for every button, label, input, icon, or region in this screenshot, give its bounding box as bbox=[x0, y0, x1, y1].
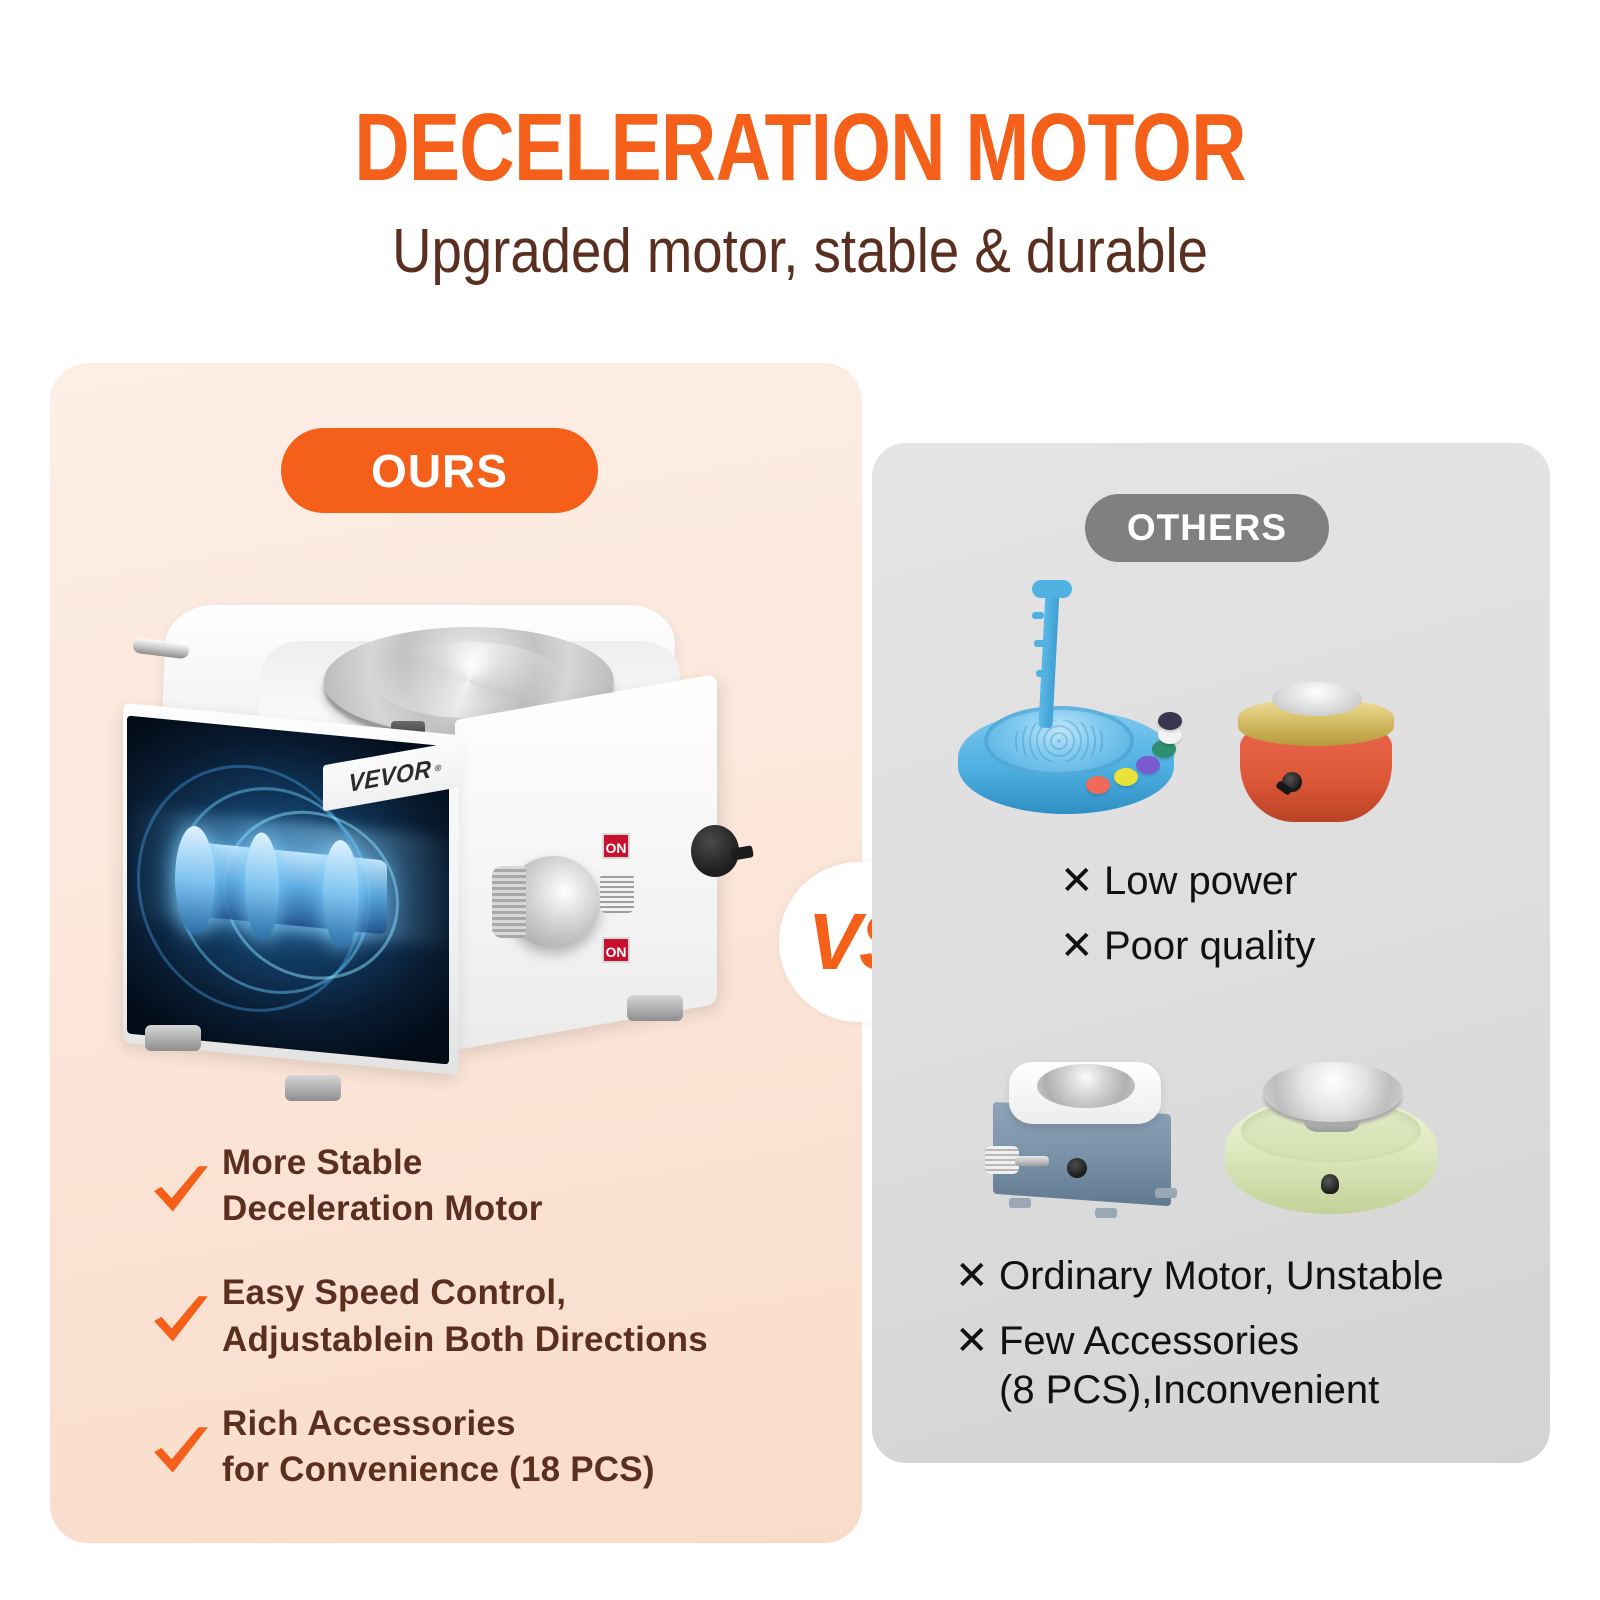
header: DECELERATION MOTOR Upgraded motor, stabl… bbox=[0, 0, 1600, 330]
competitor-paint-pot bbox=[1086, 776, 1110, 794]
ours-product-image: VEVOR® ON ON bbox=[105, 585, 765, 1105]
con-text: Low power bbox=[1104, 857, 1297, 906]
con-text: Few Accessories (8 PCS),Inconvenient bbox=[999, 1317, 1379, 1415]
competitor-arm-top bbox=[1032, 580, 1072, 598]
competitor-arm-nub bbox=[1034, 640, 1046, 647]
feature-line-2: Deceleration Motor bbox=[222, 1186, 543, 1232]
switch-label-top: ON bbox=[602, 833, 630, 859]
con-text: Poor quality bbox=[1104, 922, 1315, 971]
switch-label-bottom: ON bbox=[602, 937, 630, 963]
competitor-knob bbox=[985, 1146, 1019, 1174]
list-item: ✕ Few Accessories (8 PCS),Inconvenient bbox=[955, 1317, 1444, 1415]
competitor-wheel-head bbox=[1263, 1062, 1403, 1122]
competitor-arm-nub bbox=[1032, 612, 1044, 619]
x-icon: ✕ bbox=[955, 1321, 999, 1361]
feature-text: Rich Accessories for Convenience (18 PCS… bbox=[222, 1401, 655, 1493]
switch-base bbox=[600, 873, 634, 913]
ours-badge: OURS bbox=[281, 428, 598, 513]
ours-badge-label: OURS bbox=[371, 444, 508, 498]
con-text: Ordinary Motor, Unstable bbox=[999, 1252, 1444, 1301]
list-item: ✕ Ordinary Motor, Unstable bbox=[955, 1252, 1444, 1301]
competitor-knob bbox=[1282, 772, 1302, 792]
competitor-paint-pot bbox=[1114, 768, 1138, 786]
list-item: Rich Accessories for Convenience (18 PCS… bbox=[150, 1401, 830, 1493]
competitor-product-gray-box-wheel bbox=[985, 1040, 1185, 1225]
competitor-wheel-head bbox=[1037, 1064, 1135, 1108]
competitor-power-port-icon bbox=[1067, 1158, 1087, 1178]
ours-feature-list: More Stable Deceleration Motor Easy Spee… bbox=[150, 1140, 830, 1531]
product-foot bbox=[285, 1075, 341, 1101]
check-icon bbox=[150, 1425, 212, 1484]
list-item: Easy Speed Control, Adjustablein Both Di… bbox=[150, 1270, 830, 1362]
competitor-product-blue-toy-wheel bbox=[958, 578, 1178, 828]
check-icon bbox=[150, 1294, 212, 1353]
competitor-wheel-head bbox=[1272, 682, 1362, 716]
competitor-foot bbox=[1095, 1208, 1117, 1218]
page-title: DECELERATION MOTOR bbox=[160, 100, 1440, 196]
x-icon: ✕ bbox=[955, 1256, 999, 1296]
registered-trademark-icon: ® bbox=[435, 762, 442, 773]
competitor-wheel-plate bbox=[984, 706, 1134, 776]
direction-toggle-switch[interactable]: ON ON bbox=[602, 833, 630, 963]
competitor-shaft bbox=[1015, 1156, 1049, 1166]
competitor-product-green-round-wheel bbox=[1225, 1048, 1440, 1223]
feature-line-2: for Convenience (18 PCS) bbox=[222, 1447, 655, 1493]
competitor-arm-nub bbox=[1036, 670, 1048, 677]
list-item: ✕ Low power bbox=[1060, 857, 1315, 906]
feature-text: More Stable Deceleration Motor bbox=[222, 1140, 543, 1232]
page-subtitle: Upgraded motor, stable & durable bbox=[96, 218, 1504, 286]
feature-line-1: Rich Accessories bbox=[222, 1401, 655, 1447]
con-line-1: Few Accessories bbox=[999, 1317, 1379, 1366]
others-badge: OTHERS bbox=[1085, 494, 1329, 562]
x-icon: ✕ bbox=[1060, 926, 1104, 966]
check-icon bbox=[150, 1164, 212, 1223]
competitor-paint-pot bbox=[1158, 712, 1182, 730]
competitor-product-orange-motor bbox=[1232, 668, 1402, 828]
product-foot bbox=[627, 995, 683, 1021]
product-body-right-face bbox=[455, 674, 717, 1050]
speed-control-knob[interactable] bbox=[506, 856, 600, 948]
competitor-knob bbox=[1321, 1174, 1339, 1194]
con-line-2: (8 PCS),Inconvenient bbox=[999, 1366, 1379, 1415]
competitor-foot bbox=[1009, 1198, 1031, 1208]
feature-line-1: More Stable bbox=[222, 1140, 543, 1186]
product-foot bbox=[145, 1025, 201, 1051]
x-icon: ✕ bbox=[1060, 861, 1104, 901]
list-item: ✕ Poor quality bbox=[1060, 922, 1315, 971]
vevor-logo-text: VEVOR bbox=[348, 755, 431, 799]
competitor-paint-pot bbox=[1136, 756, 1160, 774]
feature-text: Easy Speed Control, Adjustablein Both Di… bbox=[222, 1270, 708, 1362]
feature-line-2: Adjustablein Both Directions bbox=[222, 1317, 708, 1363]
competitor-foot bbox=[1155, 1188, 1177, 1198]
others-cons-bottom-list: ✕ Ordinary Motor, Unstable ✕ Few Accesso… bbox=[955, 1252, 1444, 1430]
power-port-icon bbox=[691, 825, 739, 877]
others-badge-label: OTHERS bbox=[1127, 507, 1287, 549]
feature-line-1: Easy Speed Control, bbox=[222, 1270, 708, 1316]
others-cons-top-list: ✕ Low power ✕ Poor quality bbox=[1060, 857, 1315, 987]
list-item: More Stable Deceleration Motor bbox=[150, 1140, 830, 1232]
